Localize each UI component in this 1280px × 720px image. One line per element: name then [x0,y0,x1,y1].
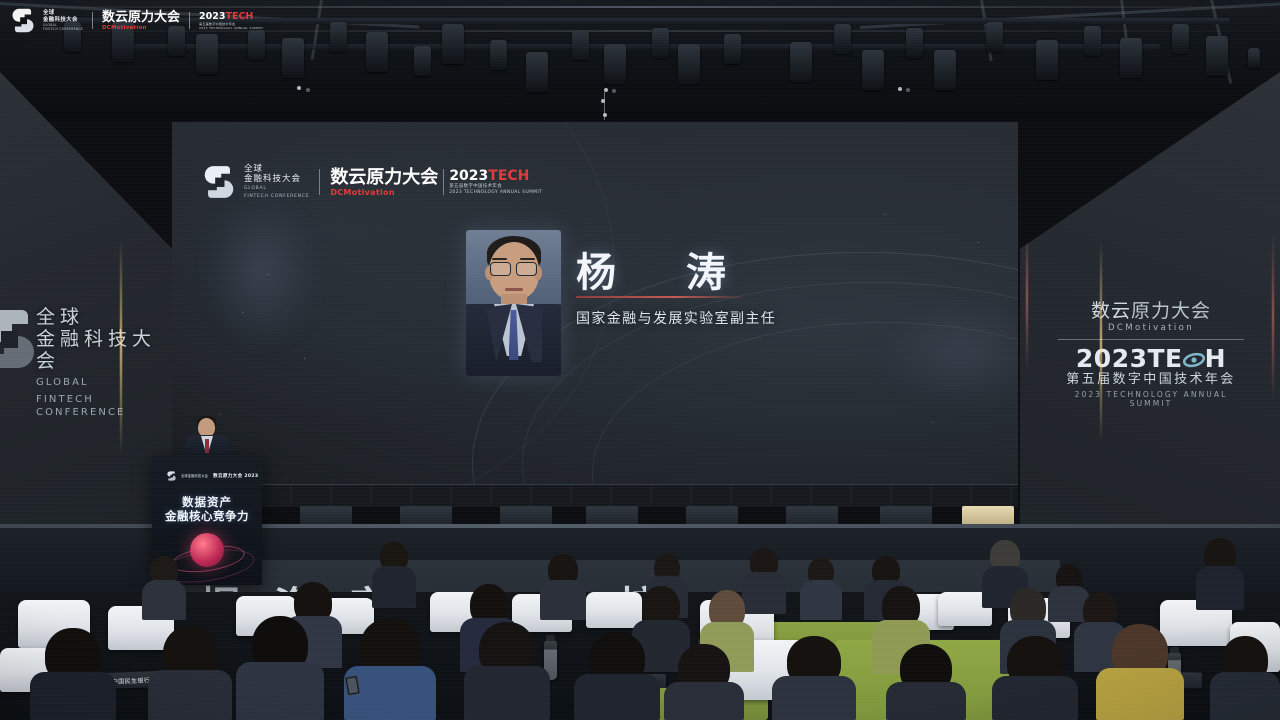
fintech-logo-icon [0,308,34,370]
screen-year-tech: TECH [488,168,529,184]
podium-logo-brand: 数云原力大会 2023 [213,473,258,479]
overlay-logo-cn2: 金融科技大会 [43,17,83,23]
podium-headline-line2: 金融核心竞争力 [152,509,262,523]
fintech-logo-icon [204,165,234,199]
screen-logo-cn1: 全球 [244,164,309,174]
speaker-name-divider [576,296,742,298]
screen-year: 2023 [449,168,488,184]
right-wall-summit-cn: 第五届数字中国技术年会 [1058,372,1244,388]
right-wall-brand-cn2: 原力大会 [1131,300,1211,322]
overlay-year: 2023 [199,11,225,22]
speaker-name: 杨 涛 [576,240,754,298]
screen-brand-en: DCMotivation [330,188,438,197]
screen-logo-en2: FINTECH CONFERENCE [244,194,309,200]
left-wall-en-line1: GLOBAL [36,376,172,389]
overlay-brand-en: DCMotivation [102,25,180,31]
conference-hall-photo: 全球 金融科技大会 GLOBAL FINTECH CONFERENCE 数云原力… [0,0,1280,720]
left-wall-cn-line2: 金融科技大会 [36,328,172,372]
right-wall-brand-cn: 数云 [1091,300,1131,322]
main-led-screen: 全球 金融科技大会 GLOBAL FINTECH CONFERENCE 数云原力… [172,122,1018,484]
screen-brand-cn: 数云 [330,167,366,188]
overlay-logo-en2: FINTECH CONFERENCE [43,27,83,31]
overlay-year-sub-en: 2023 TECHNOLOGY ANNUAL SUMMIT [199,26,263,30]
fintech-logo-icon [167,471,176,481]
screen-year-sub-en: 2023 TECHNOLOGY ANNUAL SUMMIT [449,190,542,196]
screen-brand-cn2: 原力大会 [366,167,438,188]
speaker-portrait-photo [466,230,561,376]
podium-headline-line1: 数据资产 [152,495,262,509]
screen-logo-lockup: 全球 金融科技大会 GLOBAL FINTECH CONFERENCE 数云原力… [204,164,542,200]
podium-logo-cn: 全球金融科技大会 [181,474,208,478]
right-wall-tech2: H [1205,344,1226,373]
right-wall-summit-en: 2023 TECHNOLOGY ANNUAL SUMMIT [1058,390,1244,408]
overlay-brand-cn2: 原力大会 [128,10,180,25]
right-wall-year: 2023 [1076,344,1148,373]
overlay-year-tech: TECH [225,11,253,22]
right-wall-tech: TE [1148,344,1183,373]
screen-logo-en1: GLOBAL [244,186,309,192]
podium-orb-graphic [190,533,224,567]
left-wall-en-line2: FINTECH CONFERENCE [36,393,172,419]
podium-logo: 全球金融科技大会 数云原力大会 2023 [167,471,258,481]
at-swoosh-icon [1183,351,1205,369]
name-plate-label: 中国民生银行 [112,675,151,685]
screen-logo-cn2: 金融科技大会 [244,174,309,184]
left-wall-cn-line1: 全球 [36,306,172,328]
left-wall-branding-panel: 全球 金融科技大会 GLOBAL FINTECH CONFERENCE [0,72,172,592]
fintech-logo-icon [12,8,34,33]
screen-lower-band [172,484,1018,507]
speaker-title: 国家金融与发展实验室副主任 [576,308,776,328]
overlay-brand-cn: 数云 [102,10,128,25]
right-wall-branding-panel: 数云原力大会 DCMotivation 2023TEH 第五届数字中国技术年会 … [1020,72,1280,592]
broadcast-logo-overlay: 全球 金融科技大会 GLOBAL FINTECH CONFERENCE 数云原力… [12,8,263,33]
right-wall-brand-en: DCMotivation [1058,323,1244,333]
